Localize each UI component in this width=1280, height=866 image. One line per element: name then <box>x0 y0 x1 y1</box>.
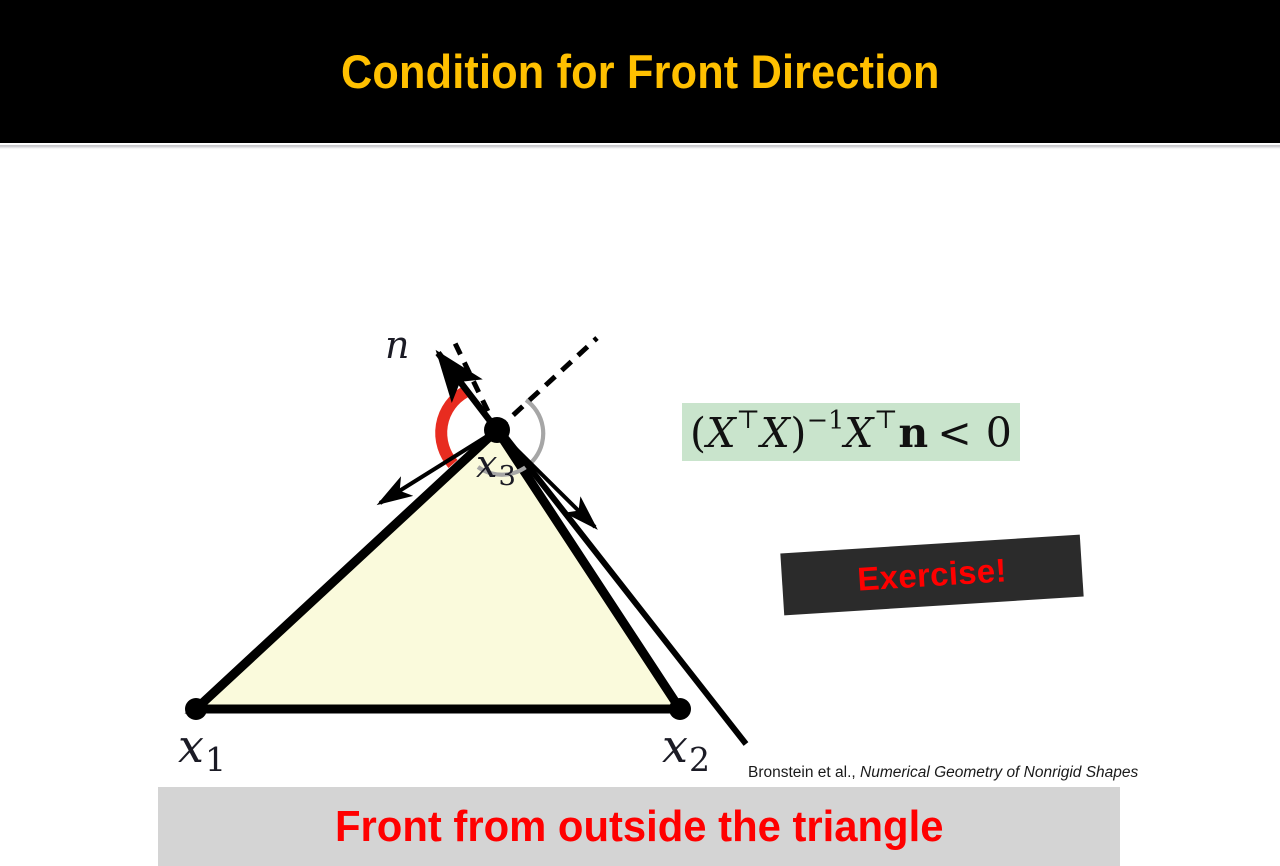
dashed-ray-upright <box>497 338 597 430</box>
page-title: Condition for Front Direction <box>341 44 940 99</box>
exercise-label: Exercise! <box>856 551 1008 598</box>
exercise-callout: Exercise! <box>780 535 1083 616</box>
attribution-book-title: Numerical Geometry of Nonrigid Shapes <box>860 764 1138 781</box>
vertex-label-x1: x1 <box>178 723 226 776</box>
vertex-label-x3: x3 <box>476 445 516 490</box>
caption-bar: Front from outside the triangle <box>158 787 1120 866</box>
slide-body: x1 x2 x3 n (X⊤X)−1X⊤n < 0 Exercise! Bron… <box>0 149 1280 717</box>
triangle-normal-diagram <box>140 309 800 789</box>
attribution-text: Bronstein et al., Numerical Geometry of … <box>748 764 1138 782</box>
formula-expression: (X⊤X)−1X⊤n < 0 <box>690 409 1012 457</box>
caption-text: Front from outside the triangle <box>335 802 943 852</box>
slide-header: Condition for Front Direction <box>0 0 1280 143</box>
vertex-label-x2: x2 <box>662 723 710 776</box>
attribution-authors: Bronstein et al., <box>748 764 860 781</box>
formula-highlight-box: (X⊤X)−1X⊤n < 0 <box>682 403 1020 461</box>
vertex-dot-x3 <box>484 417 510 443</box>
normal-label-n: n <box>385 326 409 364</box>
